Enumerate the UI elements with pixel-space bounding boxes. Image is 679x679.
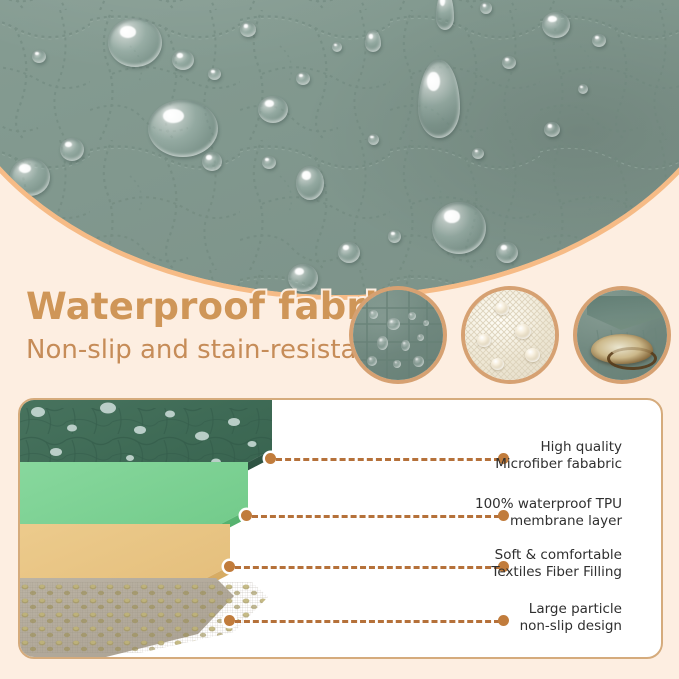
callout-anchor-dot-3 [224, 561, 235, 572]
page-title: Waterproof fabric [26, 288, 400, 327]
inset-water-beading-on-cream-fabric [465, 290, 555, 380]
callout-anchor-dot-1 [265, 453, 276, 464]
callout-label-1b: Microfiber fababric [320, 456, 622, 473]
inset-water-beading-on-green-fabric [353, 290, 443, 380]
water-droplets [0, 0, 679, 295]
callout-anchor-dot-4 [224, 615, 235, 626]
callout-label-3b: Textiles Fiber Filling [320, 564, 622, 581]
callout-anchor-dot-2 [241, 510, 252, 521]
headline-group: Waterproof fabric Non-slip and stain-res… [26, 288, 400, 365]
page-subtitle: Non-slip and stain-resistant [26, 335, 400, 365]
callout-label-3: Soft & comfortable [320, 547, 622, 564]
callout-rows: High quality Microfiber fababric 100% wa… [20, 400, 661, 657]
callout-label-4: Large particle [320, 601, 622, 618]
inset-coffee-spill-on-green-fabric [577, 290, 667, 380]
hero-fabric-ellipse [0, 0, 679, 295]
callout-label-4b: non-slip design [320, 618, 622, 635]
infographic-canvas: Waterproof fabric Non-slip and stain-res… [0, 0, 679, 679]
callout-label-2b: membrane layer [320, 513, 622, 530]
coffee-ring [607, 347, 657, 370]
callout-label-2: 100% waterproof TPU [320, 496, 622, 513]
hero-image [0, 0, 679, 295]
layer-diagram-panel: High quality Microfiber fababric 100% wa… [18, 398, 663, 659]
callout-label-1: High quality [320, 439, 622, 456]
